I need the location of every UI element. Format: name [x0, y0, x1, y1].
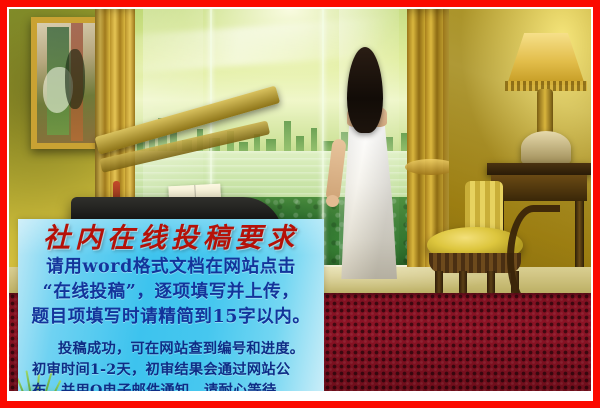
paragraph2-line-2: 初审时间1-2天，初审结果会通过网站公	[32, 360, 314, 381]
paragraph2-line-1: 投稿成功，可在网站查到编号和进度。	[32, 339, 314, 360]
woman-figure	[325, 47, 405, 283]
announcement-paragraph-2: 投稿成功，可在网站查到编号和进度。 初审时间1-2天，初审结果会通过网站公 布。…	[32, 339, 314, 393]
interior-photo: 社内在线投稿要求 请用word格式文档在网站点击 “在线投稿”，逐项填写并上传，…	[9, 9, 591, 393]
ottoman-leg	[459, 271, 467, 295]
long-dark-hair	[347, 47, 383, 133]
paragraph1-line-1: 请用word格式文档在网站点击	[22, 255, 320, 280]
paragraph1-line-3: 题目项填写时请精简到15字以内。	[22, 305, 320, 330]
ottoman-leg	[487, 271, 495, 295]
console-table-top	[487, 163, 591, 175]
artwork-shape	[65, 49, 85, 109]
left-arm	[325, 138, 346, 201]
left-hand	[326, 195, 339, 207]
lamp-stem	[537, 89, 553, 135]
announcement-paragraph-1: 请用word格式文档在网站点击 “在线投稿”，逐项填写并上传， 题目项填写时请精…	[22, 255, 320, 330]
announcement-title: 社内在线投稿要求	[18, 223, 324, 254]
lamp-base	[521, 131, 571, 165]
console-table-leg	[575, 201, 584, 275]
announcement-panel: 社内在线投稿要求 请用word格式文档在网站点击 “在线投稿”，逐项填写并上传，…	[18, 219, 324, 393]
paragraph1-line-2: “在线投稿”，逐项填写并上传，	[22, 280, 320, 305]
poster-image: 社内在线投稿要求 请用word格式文档在网站点击 “在线投稿”，逐项填写并上传，…	[0, 0, 600, 408]
dress-shading	[339, 119, 397, 279]
bottom-white-strip	[7, 391, 593, 395]
console-table-apron	[491, 175, 587, 201]
ottoman-leg	[435, 271, 443, 295]
